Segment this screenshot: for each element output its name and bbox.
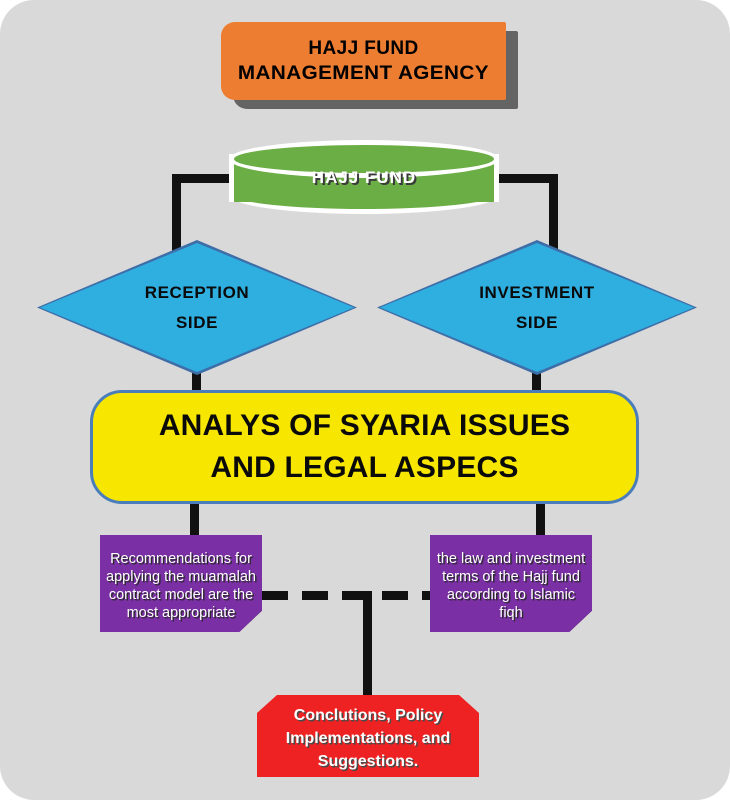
- investment-diamond-text: INVESTMENT SIDE: [377, 240, 697, 375]
- diagram-canvas: HAJJ FUND MANAGEMENT AGENCY HAJJ FUND RE…: [0, 0, 730, 800]
- reception-diamond-text: RECEPTION SIDE: [37, 240, 357, 375]
- reception-line-1: RECEPTION: [145, 278, 250, 308]
- connector-fund-to-investment-horizontal: [490, 174, 558, 183]
- node-hajj-fund-cylinder[interactable]: HAJJ FUND: [229, 140, 499, 216]
- recommendation-note-text: Recommendations for applying the muamala…: [100, 535, 262, 632]
- connector-join-to-conclusion: [363, 591, 372, 701]
- node-recommendation-note[interactable]: Recommendations for applying the muamala…: [100, 535, 262, 632]
- hajj-fund-label: HAJJ FUND: [229, 168, 499, 188]
- investment-line-1: INVESTMENT: [479, 278, 595, 308]
- law-and-investment-terms-text: the law and investment terms of the Hajj…: [430, 535, 592, 632]
- node-conclusions-policy-suggestions[interactable]: Conclutions, Policy Implementations, and…: [257, 695, 479, 777]
- analysis-line-2: AND LEGAL ASPECS: [210, 447, 518, 489]
- analysis-line-1: ANALYS OF SYARIA ISSUES: [159, 405, 570, 447]
- agency-title-line-2: MANAGEMENT AGENCY: [238, 61, 489, 86]
- conclusion-text: Conclutions, Policy Implementations, and…: [257, 700, 479, 773]
- node-reception-side[interactable]: RECEPTION SIDE: [37, 240, 357, 375]
- node-hajj-fund-management-agency[interactable]: HAJJ FUND MANAGEMENT AGENCY: [221, 22, 506, 100]
- node-investment-side[interactable]: INVESTMENT SIDE: [377, 240, 697, 375]
- node-law-and-investment-terms-note[interactable]: the law and investment terms of the Hajj…: [430, 535, 592, 632]
- node-analysis-of-syaria-issues[interactable]: ANALYS OF SYARIA ISSUES AND LEGAL ASPECS: [90, 390, 639, 504]
- agency-title-line-1: HAJJ FUND: [308, 36, 418, 61]
- investment-line-2: SIDE: [516, 308, 558, 338]
- reception-line-2: SIDE: [176, 308, 218, 338]
